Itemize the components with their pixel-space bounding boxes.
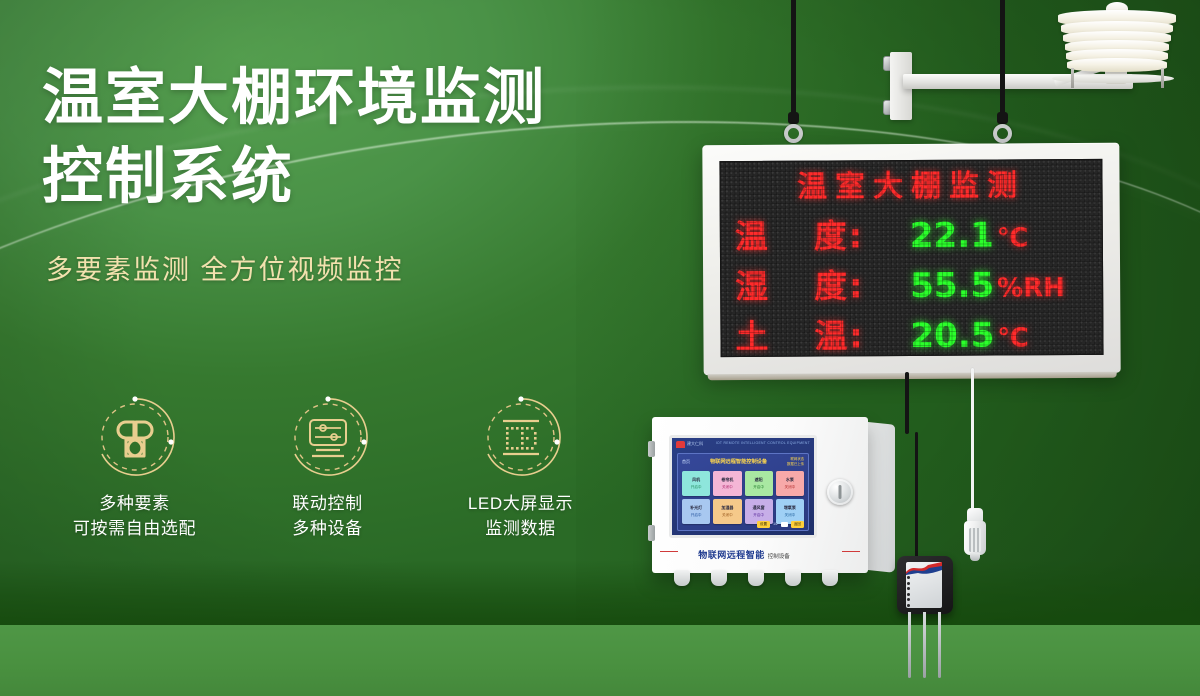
feature-label-line2: 监测数据 bbox=[424, 517, 617, 542]
background-horizon-shadow bbox=[0, 560, 1200, 626]
shield-plate-6 bbox=[1067, 58, 1167, 72]
feature-label-line1: 多种要素 bbox=[38, 492, 231, 517]
device-tile-status: 关闭中 bbox=[722, 513, 733, 518]
suspension-cable-left bbox=[791, 0, 796, 120]
device-tile-grid: 风机 开启中 卷帘机 关闭中 遮阳 开启中 水泵 bbox=[682, 471, 804, 524]
headline-line-1: 温室大棚环境监测 bbox=[42, 58, 702, 137]
iot-control-box[interactable]: 建大仁科 IOT REMOTE INTELLIGENT CONTROL EQUI… bbox=[652, 417, 895, 573]
settings-button[interactable]: 设置 bbox=[757, 521, 770, 528]
screen-toolbar: 首页 物联网远程智能控制设备 联网状态 数据已上传 bbox=[678, 454, 808, 469]
led-screen-title: 温室大棚监测 bbox=[720, 159, 1101, 205]
device-tile-status: 关闭中 bbox=[722, 485, 733, 490]
shield-leg-right bbox=[1161, 68, 1164, 88]
soil-probe-pin bbox=[908, 612, 911, 678]
front-label-rule-right bbox=[842, 551, 860, 552]
led-unit-temperature: ℃ bbox=[997, 223, 1029, 253]
led-value-temperature: 22.1 bbox=[910, 215, 994, 256]
cable-gland bbox=[674, 570, 690, 586]
sliders-control-panel-icon bbox=[283, 392, 373, 482]
feature-item-led-display[interactable]: LED大屏显示 监测数据 bbox=[424, 392, 617, 541]
device-tile[interactable]: 遮阳 开启中 bbox=[745, 471, 773, 496]
cable-gland bbox=[711, 570, 727, 586]
background-ground-band bbox=[0, 625, 1200, 696]
page-title: 温室大棚环境监测 控制系统 bbox=[42, 58, 702, 217]
brand-name: 建大仁科 bbox=[687, 441, 703, 447]
control-box-hinge-bottom bbox=[648, 525, 655, 541]
four-petal-clover-icon bbox=[90, 392, 180, 482]
device-tile-name: 水泵 bbox=[786, 477, 794, 483]
network-status-sub: 数据已上传 bbox=[787, 462, 804, 466]
screen-body: 首页 物联网远程智能控制设备 联网状态 数据已上传 风机 开启中 bbox=[677, 453, 809, 531]
led-row-humidity: 湿度: 55.5 %RH bbox=[721, 257, 1102, 307]
device-tile[interactable]: 卷帘机 关闭中 bbox=[713, 471, 741, 496]
device-tile-status: 开启中 bbox=[753, 513, 764, 518]
screen-header-subtitle: IOT REMOTE INTELLIGENT CONTROL EQUIPMENT bbox=[716, 441, 810, 445]
control-box-hinge-top bbox=[648, 441, 655, 457]
shield-plates bbox=[1057, 6, 1177, 76]
suspension-cable-right-boot bbox=[997, 112, 1008, 124]
network-status-label: 联网状态 bbox=[787, 457, 804, 461]
screen-title: 物联网远程智能控制设备 bbox=[710, 458, 767, 465]
poster-canvas: 温室大棚环境监测 控制系统 多要素监测 全方位视频监控 多种要素 bbox=[0, 0, 1200, 696]
led-unit-humidity: %RH bbox=[997, 273, 1065, 303]
control-box-lock-knob[interactable] bbox=[827, 479, 853, 505]
control-box-side-panel bbox=[868, 422, 895, 573]
brand-logo-icon bbox=[676, 441, 685, 448]
soil-sensor-cable bbox=[915, 432, 918, 562]
device-tile-name: 风机 bbox=[692, 477, 700, 483]
soil-probe-pin bbox=[938, 612, 941, 678]
device-tile-status: 开启中 bbox=[691, 513, 702, 518]
suspension-cable-left-boot bbox=[788, 112, 799, 124]
page-subtitle: 多要素监测 全方位视频监控 bbox=[46, 248, 404, 287]
suspension-ring-left bbox=[784, 124, 803, 143]
led-display-panel: 温室大棚监测 温度: 22.1 ℃ 湿度: 55.5 %RH 土温: 20.5 … bbox=[702, 143, 1120, 376]
control-box-front-label: 物联网远程智能控制设备 bbox=[664, 545, 824, 563]
led-row-soil-temperature: 土温: 20.5 ℃ bbox=[721, 307, 1102, 357]
cable-gland bbox=[822, 570, 838, 586]
control-box-enclosure: 建大仁科 IOT REMOTE INTELLIGENT CONTROL EQUI… bbox=[652, 417, 868, 573]
front-label-sub: 控制设备 bbox=[768, 554, 790, 560]
suspension-cable-right bbox=[1000, 0, 1005, 120]
led-label-temperature: 温度: bbox=[735, 209, 910, 258]
th-sensor-tip bbox=[970, 553, 980, 561]
device-tile-name: 通风窗 bbox=[753, 505, 765, 511]
device-tile-name: 补光灯 bbox=[690, 505, 702, 511]
led-display-icon bbox=[476, 392, 566, 482]
led-unit-soil-temperature: ℃ bbox=[997, 323, 1029, 353]
cable-gland bbox=[785, 570, 801, 586]
feature-label-line2: 多种设备 bbox=[231, 517, 424, 542]
led-value-soil-temperature: 20.5 bbox=[910, 315, 994, 356]
device-tile-name: 卷帘机 bbox=[721, 477, 733, 483]
device-tile-name: 加湿器 bbox=[721, 505, 733, 511]
feature-label-line1: 联动控制 bbox=[231, 492, 424, 517]
page-indicator: 1/2 bbox=[773, 522, 778, 526]
led-label-humidity: 湿度: bbox=[735, 259, 910, 308]
cable-gland bbox=[748, 570, 764, 586]
device-tile-status: 开启中 bbox=[753, 485, 764, 490]
led-screen: 温室大棚监测 温度: 22.1 ℃ 湿度: 55.5 %RH 土温: 20.5 … bbox=[719, 159, 1103, 357]
control-box-touchscreen[interactable]: 建大仁科 IOT REMOTE INTELLIGENT CONTROL EQUI… bbox=[669, 435, 817, 538]
network-status: 联网状态 数据已上传 bbox=[787, 457, 804, 466]
th-sensor-vent-slots bbox=[969, 528, 981, 552]
soil-sensor-vent-dots bbox=[907, 576, 910, 610]
back-button[interactable]: 返回 bbox=[791, 521, 804, 528]
shield-leg-left bbox=[1071, 68, 1074, 88]
device-tile[interactable]: 水泵 关闭中 bbox=[776, 471, 804, 496]
screen-header: 建大仁科 IOT REMOTE INTELLIGENT CONTROL EQUI… bbox=[672, 438, 814, 452]
soil-sensor-brand-wave bbox=[906, 562, 942, 575]
th-sensor-cable bbox=[971, 368, 974, 514]
suspension-ring-right bbox=[993, 124, 1012, 143]
led-label-soil-temperature: 土温: bbox=[735, 309, 910, 358]
led-row-temperature: 温度: 22.1 ℃ bbox=[721, 207, 1102, 257]
led-value-humidity: 55.5 bbox=[910, 265, 994, 306]
hanging-temperature-humidity-sensor bbox=[962, 508, 988, 568]
soil-probe-pin bbox=[923, 612, 926, 678]
feature-item-elements[interactable]: 多种要素 可按需自由选配 bbox=[38, 392, 231, 541]
front-label-main: 物联网远程智能 bbox=[698, 550, 765, 560]
device-tile-status: 关闭中 bbox=[784, 513, 795, 518]
feature-list: 多种要素 可按需自由选配 bbox=[38, 392, 618, 541]
device-tile-name: 增氧泵 bbox=[784, 505, 796, 511]
home-button[interactable]: 首页 bbox=[682, 459, 690, 465]
screen-footer: 设置 1/2 返回 bbox=[682, 520, 804, 528]
soil-temperature-moisture-sensor bbox=[897, 556, 953, 614]
device-tile-status: 关闭中 bbox=[784, 485, 795, 490]
feature-label-line1: LED大屏显示 bbox=[424, 492, 617, 517]
headline-line-2: 控制系统 bbox=[42, 137, 702, 216]
feature-item-linkage-control[interactable]: 联动控制 多种设备 bbox=[231, 392, 424, 541]
led-power-cable bbox=[905, 372, 909, 434]
page-box-icon bbox=[781, 522, 788, 527]
device-tile[interactable]: 风机 开启中 bbox=[682, 471, 710, 496]
feature-label-line2: 可按需自由选配 bbox=[38, 517, 231, 542]
device-tile-name: 遮阳 bbox=[755, 477, 763, 483]
device-tile-status: 开启中 bbox=[691, 485, 702, 490]
